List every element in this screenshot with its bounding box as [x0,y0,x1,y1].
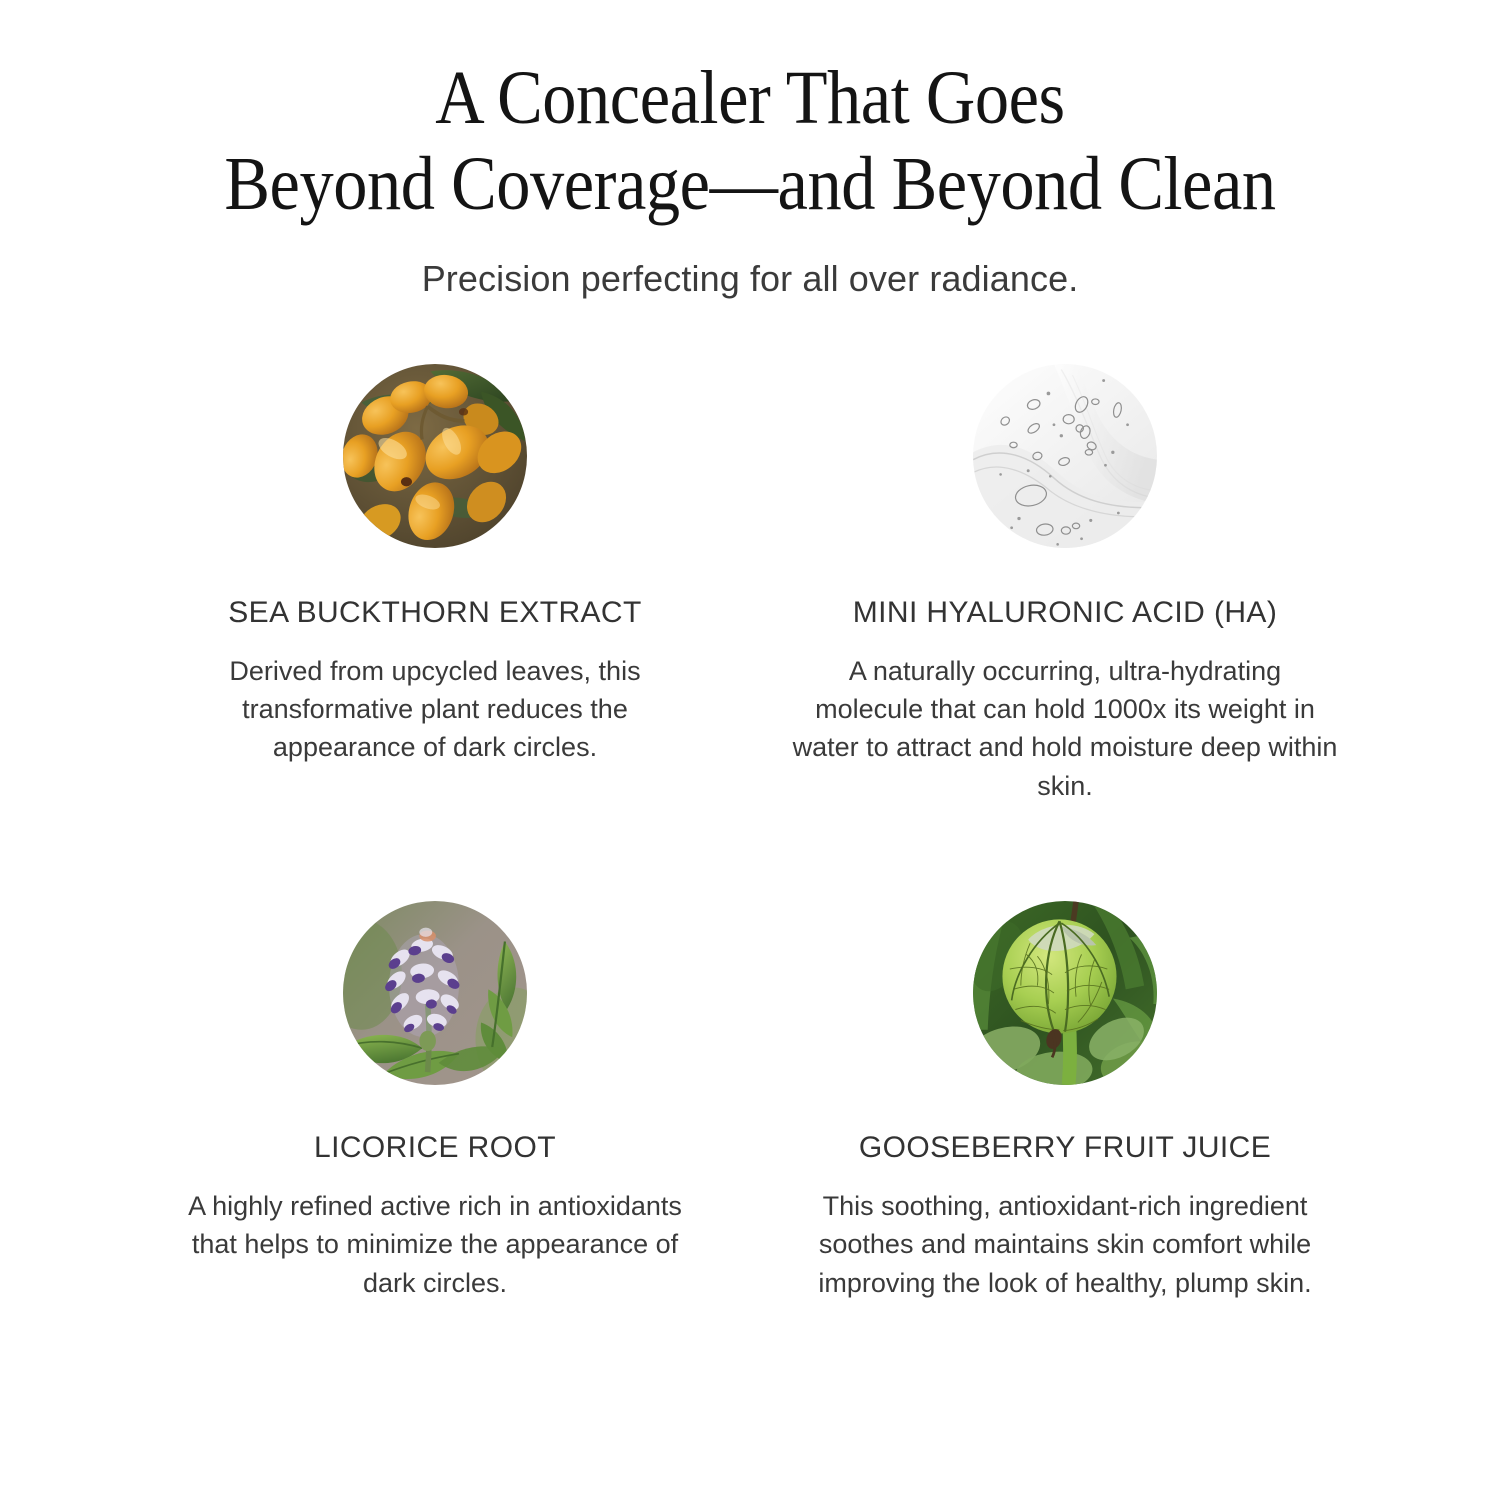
ingredient-title: SEA BUCKTHORN EXTRACT [228,596,641,630]
ingredient-description: This soothing, antioxidant-rich ingredie… [793,1187,1338,1302]
ingredient-description: A naturally occurring, ultra-hydrating m… [793,652,1338,805]
sea-buckthorn-berries-photo [343,364,527,548]
page-title-line-2: Beyond Coverage—and Beyond Clean [170,142,1331,228]
gooseberry-husk-fruit-photo [973,901,1157,1085]
ingredient-title: LICORICE ROOT [314,1131,556,1165]
page-title-line-1: A Concealer That Goes [170,56,1331,142]
hyaluronic-acid-gel-texture-photo [973,364,1157,548]
page-title: A Concealer That Goes Beyond Coverage—an… [170,56,1331,228]
ingredient-description: A highly refined active rich in antioxid… [183,1187,688,1302]
ingredient-card-sea-buckthorn: SEA BUCKTHORN EXTRACT Derived from upcyc… [120,364,750,805]
ingredient-card-gooseberry: GOOSEBERRY FRUIT JUICE This soothing, an… [750,901,1380,1302]
ingredient-title: GOOSEBERRY FRUIT JUICE [859,1131,1271,1165]
ingredient-card-licorice-root: LICORICE ROOT A highly refined active ri… [120,901,750,1302]
licorice-root-flower-photo [343,901,527,1085]
ingredient-title: MINI HYALURONIC ACID (HA) [853,596,1277,630]
ingredient-description: Derived from upcycled leaves, this trans… [183,652,688,767]
ingredient-grid: SEA BUCKTHORN EXTRACT Derived from upcyc… [0,364,1500,1302]
page-header: A Concealer That Goes Beyond Coverage—an… [0,0,1500,300]
ingredient-highlights-page: A Concealer That Goes Beyond Coverage—an… [0,0,1500,1500]
ingredient-card-hyaluronic-acid: MINI HYALURONIC ACID (HA) A naturally oc… [750,364,1380,805]
page-subtitle: Precision perfecting for all over radian… [0,258,1500,300]
